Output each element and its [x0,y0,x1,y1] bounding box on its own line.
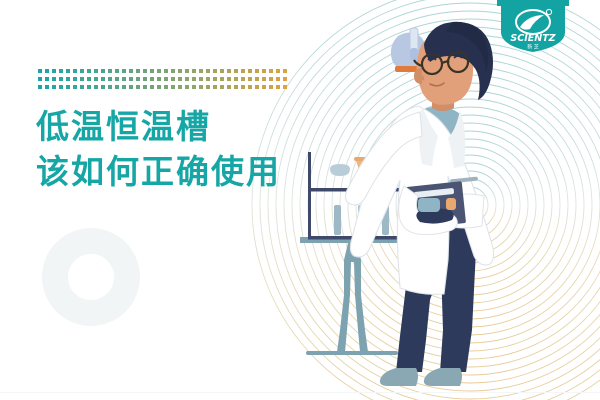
dot-grid-dot [45,85,49,89]
scientist-illustration [300,0,600,400]
dot-grid-dot [80,85,84,89]
bottom-divider [0,392,600,393]
dot-grid-dot [213,77,217,81]
dot-grid-dot [192,85,196,89]
dot-grid-dot [136,69,140,73]
dot-grid-dot [164,69,168,73]
logo-brand-text: SCIENTZ [510,33,556,44]
dot-grid-dot [234,69,238,73]
dot-grid-dot [206,69,210,73]
dot-grid-dot [52,77,56,81]
dot-grid-dot [66,77,70,81]
dot-grid-dot [59,77,63,81]
dot-grid-dot [157,77,161,81]
dot-grid-dot [178,85,182,89]
dot-grid-dot [234,85,238,89]
logo-top-banner [497,0,569,6]
dot-grid-dot [136,77,140,81]
dot-grid-dot [143,85,147,89]
dot-grid-dot [248,77,252,81]
dot-grid-dot [157,69,161,73]
headline-line-1: 低温恒温槽 [36,104,281,149]
dot-grid-dot [241,77,245,81]
dot-grid-dot [143,69,147,73]
dot-grid-dot [59,69,63,73]
dot-grid-dot [185,69,189,73]
dot-grid-dot [66,69,70,73]
dot-grid-dot [108,77,112,81]
dot-grid-dot [157,85,161,89]
dot-grid-dot [66,85,70,89]
dot-grid-dot [276,77,280,81]
dot-grid-dot [220,69,224,73]
dot-grid-dot [199,85,203,89]
dot-grid-dot [115,77,119,81]
figure-head [414,22,493,111]
dot-grid-dot [73,69,77,73]
dot-grid-dot [206,77,210,81]
dot-grid-dot [262,85,266,89]
dot-grid-dot [213,69,217,73]
dot-grid-dot [255,77,259,81]
dot-grid-dot [164,77,168,81]
dot-grid-dot [52,69,56,73]
dot-grid-dot [150,69,154,73]
dot-grid-dot [171,69,175,73]
dot-grid-dot [101,69,105,73]
dot-grid-dot [122,77,126,81]
poster-root: 低温恒温槽 该如何正确使用 [0,0,600,400]
dot-grid-dot [59,85,63,89]
dot-grid-dot [269,69,273,73]
dot-grid-dot [227,69,231,73]
dot-grid-dot [255,85,259,89]
dot-grid-dot [45,69,49,73]
dot-grid-dot [185,85,189,89]
scientz-logo[interactable]: SCIENTZ 新 芝 [497,0,569,52]
dot-grid-dot [276,69,280,73]
dot-grid-dot [199,69,203,73]
dot-grid-row [38,69,290,77]
dot-grid-dot [80,69,84,73]
faint-donut-ring [42,228,140,326]
dot-grid-dot [248,85,252,89]
page-title: 低温恒温槽 该如何正确使用 [36,104,281,194]
dot-grid-dot [45,77,49,81]
dot-grid-dot [52,85,56,89]
dot-grid-dot [122,85,126,89]
dot-grid-dot [171,85,175,89]
dot-grid-dot [220,85,224,89]
dot-grid-dot [262,69,266,73]
dot-grid-dot [115,69,119,73]
dot-grid-dot [283,85,287,89]
dot-grid-row [38,85,290,93]
dot-grid-dot [185,77,189,81]
dot-grid-dot [227,77,231,81]
dot-grid-dot [269,85,273,89]
dot-grid-dot [220,77,224,81]
dot-grid-dot [213,85,217,89]
dot-grid-dot [87,69,91,73]
dot-grid-dot [255,69,259,73]
dot-grid-dot [262,77,266,81]
dot-grid-dot [269,77,273,81]
dot-grid-decoration [38,69,290,93]
dot-grid-dot [94,77,98,81]
dot-grid-dot [150,77,154,81]
dot-grid-row [38,77,290,85]
dot-grid-dot [192,77,196,81]
dot-grid-dot [94,85,98,89]
dot-grid-dot [199,77,203,81]
dot-grid-dot [234,77,238,81]
dot-grid-dot [80,77,84,81]
dot-grid-dot [283,77,287,81]
dot-grid-dot [129,77,133,81]
dot-grid-dot [87,77,91,81]
dot-grid-dot [241,85,245,89]
dot-grid-dot [129,85,133,89]
dot-grid-dot [241,69,245,73]
dot-grid-dot [248,69,252,73]
dot-grid-dot [38,77,42,81]
dot-grid-dot [108,69,112,73]
dot-grid-dot [101,77,105,81]
dot-grid-dot [178,77,182,81]
headline-line-2: 该如何正确使用 [36,149,281,194]
dot-grid-dot [38,85,42,89]
dot-grid-dot [227,85,231,89]
logo-brand-cn: 新 芝 [527,44,539,51]
dot-grid-dot [276,85,280,89]
dot-grid-dot [171,77,175,81]
dot-grid-dot [143,77,147,81]
dot-grid-dot [122,69,126,73]
dot-grid-dot [87,85,91,89]
dot-grid-dot [164,85,168,89]
dot-grid-dot [73,77,77,81]
dot-grid-dot [283,69,287,73]
dot-grid-dot [136,85,140,89]
dot-grid-dot [73,85,77,89]
dot-grid-dot [94,69,98,73]
dot-grid-dot [129,69,133,73]
dot-grid-dot [108,85,112,89]
dot-grid-dot [101,85,105,89]
dot-grid-dot [206,85,210,89]
dot-grid-dot [38,69,42,73]
dot-grid-dot [192,69,196,73]
dot-grid-dot [150,85,154,89]
dot-grid-dot [178,69,182,73]
dot-grid-dot [115,85,119,89]
